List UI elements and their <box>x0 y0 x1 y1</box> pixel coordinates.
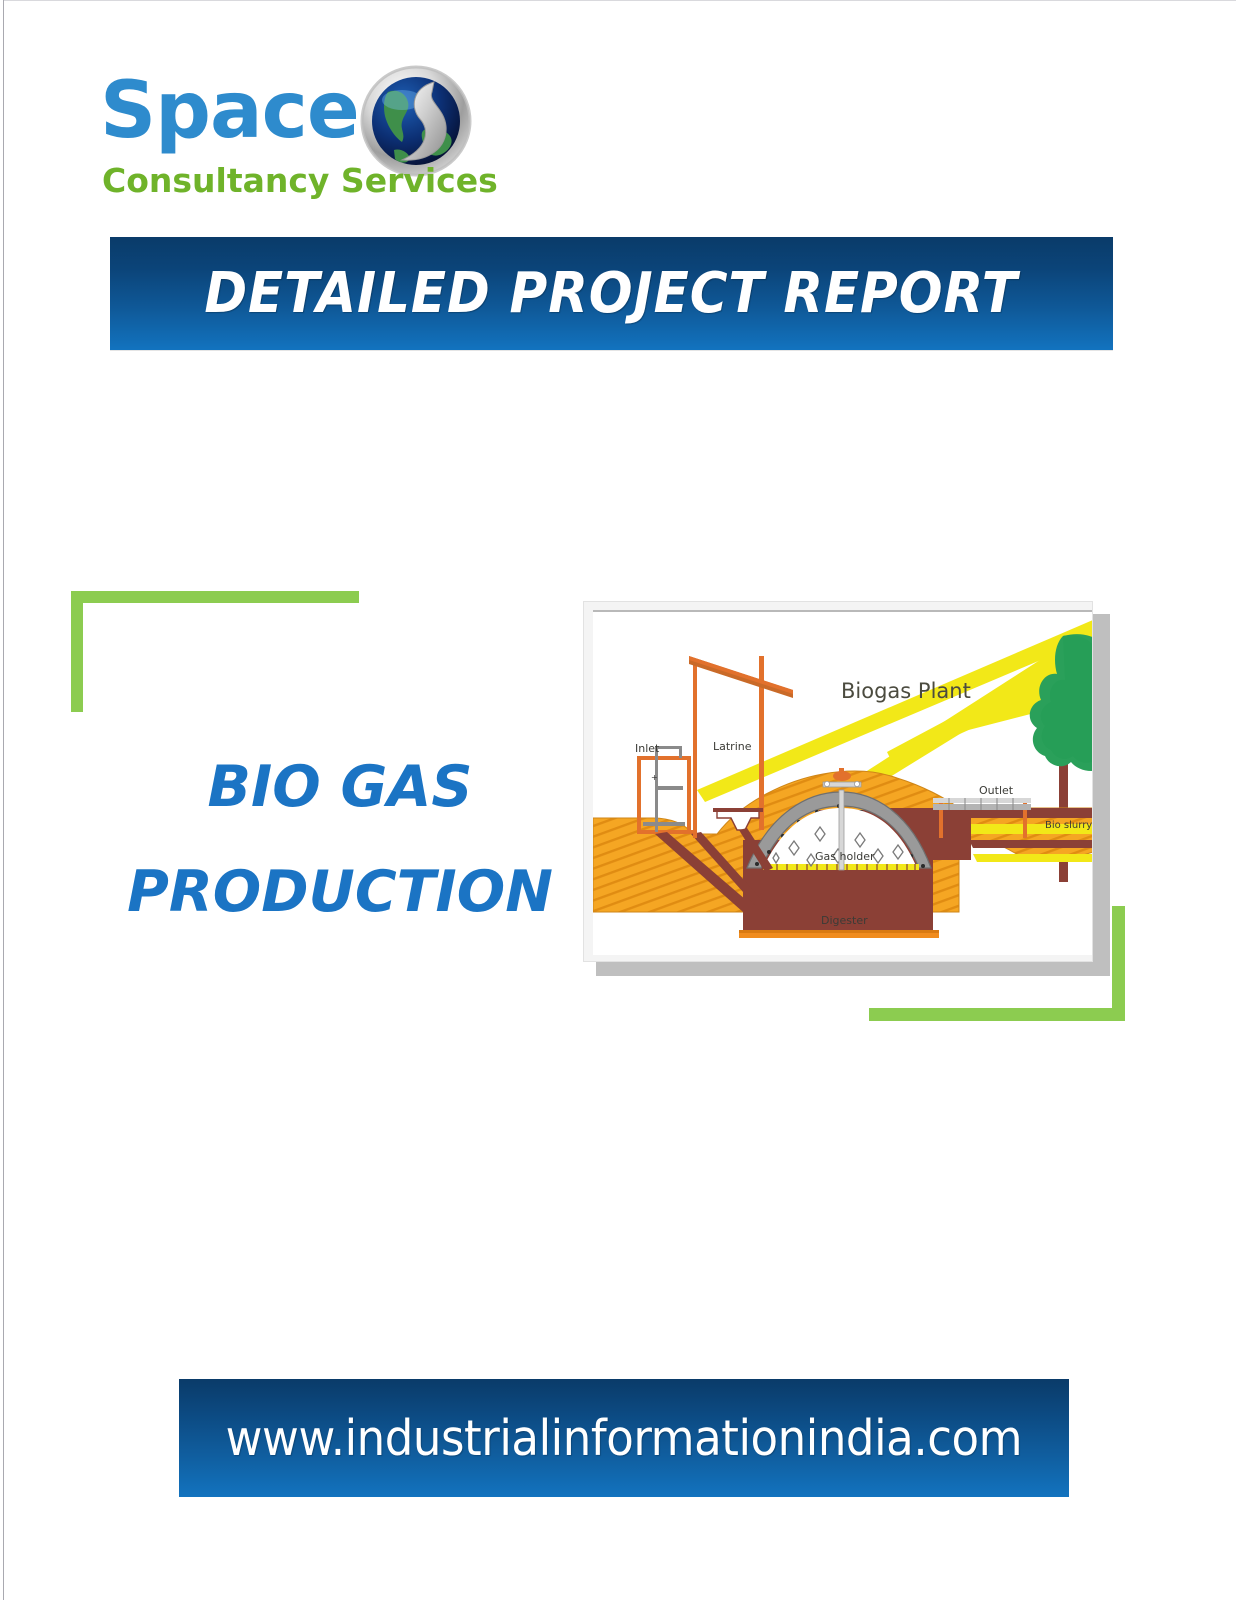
illustration-frame: + <box>583 601 1093 962</box>
logo-subtitle: Consultancy Services <box>102 164 498 197</box>
label-gas-holder: Gas holder <box>815 850 875 863</box>
svg-text:+: + <box>651 773 658 782</box>
label-inlet: Inlet <box>635 742 660 755</box>
company-logo: Space <box>100 62 500 212</box>
label-digester: Digester <box>821 914 868 927</box>
corner-bracket-top-left-vertical <box>71 591 83 712</box>
project-subject-line-2: PRODUCTION <box>100 840 580 945</box>
label-biogas-plant: Biogas Plant <box>841 679 971 703</box>
corner-bracket-top-left-horizontal <box>71 591 359 603</box>
corner-bracket-bottom-right-horizontal <box>869 1008 1125 1021</box>
biogas-plant-diagram: + <box>593 610 1093 955</box>
report-title-text: DETAILED PROJECT REPORT <box>205 261 1018 326</box>
corner-bracket-bottom-right-vertical <box>1112 906 1125 1021</box>
label-latrine: Latrine <box>713 740 752 753</box>
logo-wordmark: Space <box>100 72 359 150</box>
page-border-left <box>3 0 4 1600</box>
page-border-top <box>3 0 1236 1</box>
label-outlet: Outlet <box>979 784 1014 797</box>
report-title-banner: DETAILED PROJECT REPORT <box>110 237 1113 350</box>
label-bio-slurry: Bio slurry <box>1045 820 1092 831</box>
project-subject-title: BIO GAS PRODUCTION <box>100 735 580 946</box>
project-subject-line-1: BIO GAS <box>100 735 580 840</box>
website-url-text: www.industrialinformationindia.com <box>226 1410 1022 1467</box>
website-footer-banner[interactable]: www.industrialinformationindia.com <box>179 1379 1069 1497</box>
